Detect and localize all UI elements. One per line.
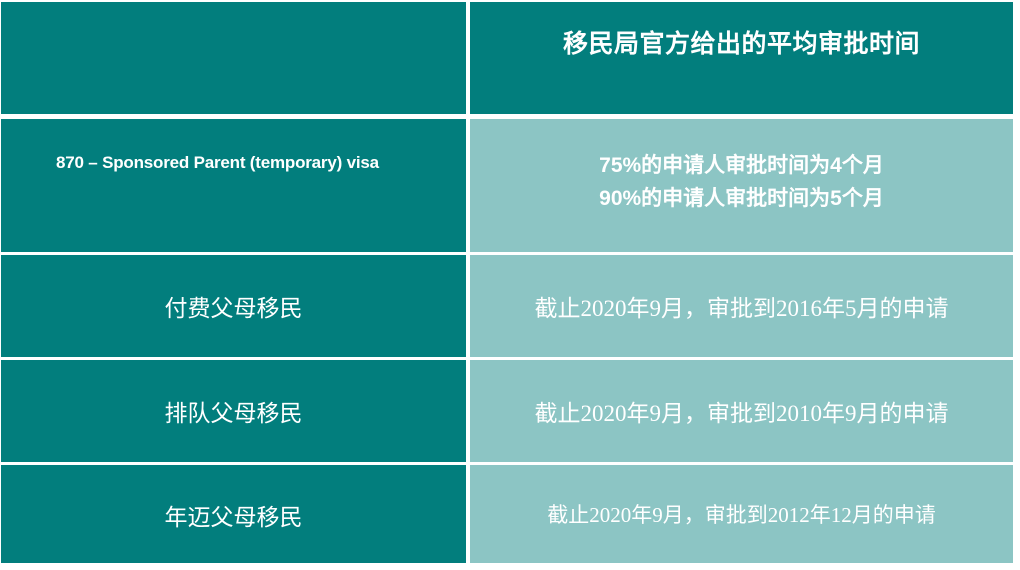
table-row-aged-parent-category: 年迈父母移民 [1,465,466,563]
header-right-label: 移民局官方给出的平均审批时间 [470,24,1013,60]
contributory-parent-label: 付费父母移民 [1,289,466,323]
visa-870-processing-line-2: 90%的申请人审批时间为5个月 [470,182,1013,215]
aged-parent-label: 年迈父母移民 [1,498,466,532]
aged-parent-processing-time: 截止2020年9月，审批到2012年12月的申请 [470,499,1013,529]
table-row-visa-870-detail: 75%的申请人审批时间为4个月 90%的申请人审批时间为5个月 [470,119,1013,252]
queued-parent-label: 排队父母移民 [1,394,466,428]
table-row-aged-parent-detail: 截止2020年9月，审批到2012年12月的申请 [470,465,1013,563]
table-row-visa-870-category: 870 – Sponsored Parent (temporary) visa [1,119,466,252]
visa-870-label: 870 – Sponsored Parent (temporary) visa [1,149,466,176]
queued-parent-processing-time: 截止2020年9月，审批到2010年9月的申请 [470,394,1013,428]
visa-870-processing-line-1: 75%的申请人审批时间为4个月 [470,149,1013,182]
header-cell-right: 移民局官方给出的平均审批时间 [470,2,1013,114]
visa-870-processing-times: 75%的申请人审批时间为4个月 90%的申请人审批时间为5个月 [470,149,1013,215]
visa-processing-times-table: 移民局官方给出的平均审批时间 870 – Sponsored Parent (t… [0,0,1020,570]
table-row-contributory-parent-category: 付费父母移民 [1,255,466,357]
table-row-queued-parent-category: 排队父母移民 [1,360,466,462]
table-row-contributory-parent-detail: 截止2020年9月，审批到2016年5月的申请 [470,255,1013,357]
contributory-parent-processing-time: 截止2020年9月，审批到2016年5月的申请 [470,289,1013,323]
header-cell-left [1,2,466,114]
table-row-queued-parent-detail: 截止2020年9月，审批到2010年9月的申请 [470,360,1013,462]
